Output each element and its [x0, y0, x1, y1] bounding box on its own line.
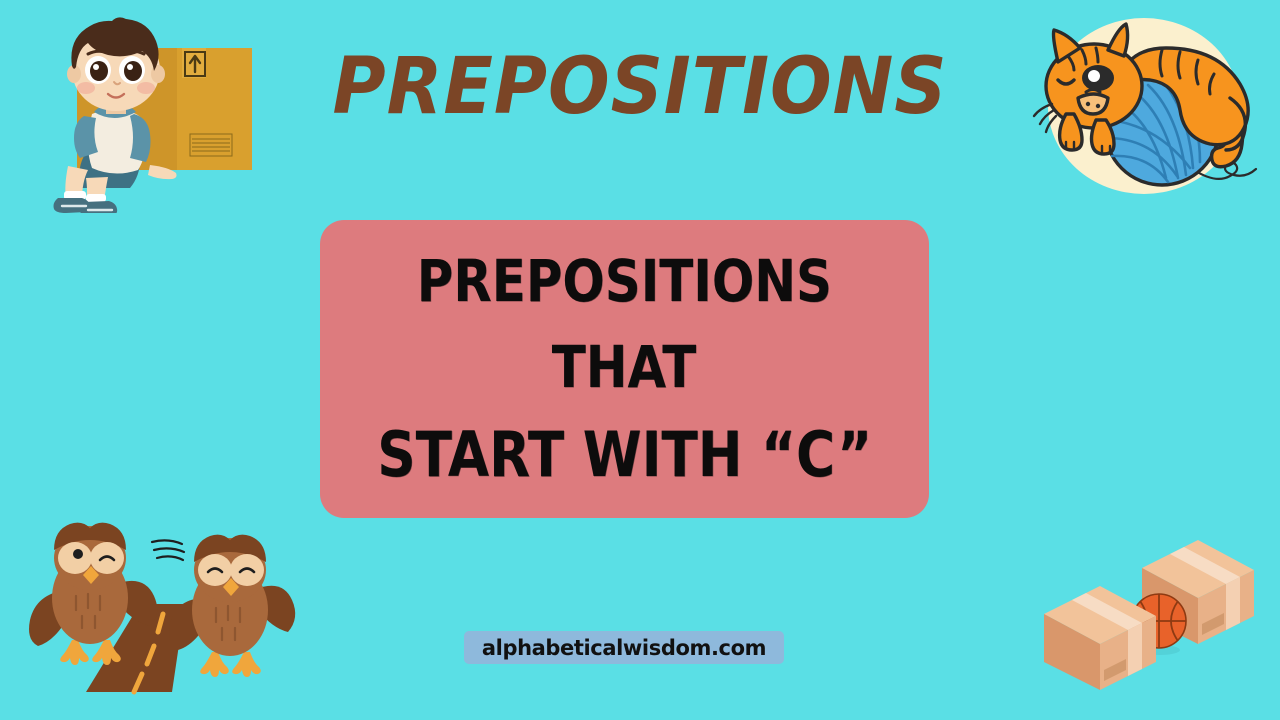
slide-canvas: PREPOSITIONS [0, 0, 1280, 720]
card-line-3: START WITH “C” [377, 424, 872, 486]
cat-on-ball-of-yarn-illustration [1022, 10, 1270, 200]
main-content-card: PREPOSITIONS THAT START WITH “C” [320, 220, 929, 518]
owl-right [169, 535, 295, 677]
website-attribution-link[interactable]: alphabeticalwisdom.com [464, 631, 784, 664]
card-line-2: THAT [552, 338, 697, 396]
two-owls-beside-road-illustration [20, 512, 302, 712]
boy-sitting-in-front-of-box-illustration [22, 8, 252, 213]
boxes-with-ball-between-illustration [1032, 532, 1280, 712]
card-line-1: PREPOSITIONS [417, 252, 832, 310]
motion-lines-icon [152, 540, 184, 560]
